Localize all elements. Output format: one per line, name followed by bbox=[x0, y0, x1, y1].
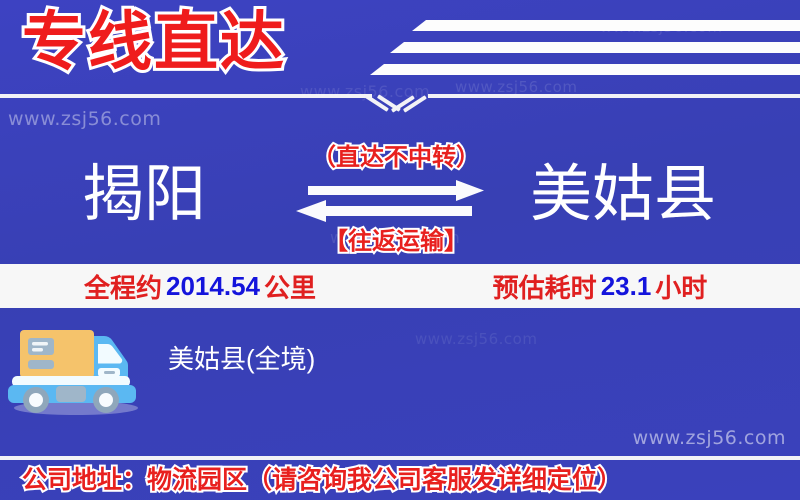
watermark-faint-2: www.zsj56.com bbox=[600, 18, 722, 36]
duration-label-prefix: 预估耗时 bbox=[493, 273, 597, 303]
route-tagline-bottom: 【往返运输】 bbox=[288, 228, 504, 256]
distance-cell: 全程约2014.54公里 bbox=[0, 268, 400, 305]
stripe-2 bbox=[390, 42, 800, 53]
stripe-3 bbox=[370, 64, 800, 75]
bidirectional-arrow-icon bbox=[294, 180, 498, 224]
duration-cell: 预估耗时23.1小时 bbox=[400, 268, 800, 305]
route-middle: （直达不中转） 【往返运输】 bbox=[288, 142, 504, 267]
watermark-faint-1: www.zsj56.com bbox=[300, 82, 430, 101]
duration-value: 23.1 bbox=[597, 271, 656, 301]
coverage-area-label: 美姑县(全境) bbox=[168, 342, 315, 376]
route-tagline-top: （直达不中转） bbox=[288, 144, 504, 172]
arrow-left-icon bbox=[296, 200, 472, 222]
destination-city: 美姑县 bbox=[530, 150, 716, 240]
arrow-right-icon bbox=[308, 180, 484, 201]
logistics-route-banner: 专线直达 www.zsj56.com www.zsj56.com www.zsj… bbox=[0, 0, 800, 500]
company-address-text: 公司地址：物流园区（请咨询我公司客服发详细定位） bbox=[0, 464, 622, 496]
watermark-faint-3: www.zsj56.com bbox=[455, 78, 577, 96]
delivery-row: 美姑县(全境) bbox=[0, 314, 800, 420]
origin-city: 揭阳 bbox=[82, 150, 206, 240]
footer-bar: 公司地址：物流园区（请咨询我公司客服发详细定位） bbox=[0, 460, 800, 500]
watermark-top-left: www.zsj56.com bbox=[8, 108, 161, 130]
watermark-bottom-right: www.zsj56.com bbox=[633, 427, 786, 449]
route-row: 揭阳 （直达不中转） 【往返运输】 美姑县 bbox=[0, 150, 800, 260]
delivery-truck-icon bbox=[6, 318, 144, 416]
decorative-stripes bbox=[370, 12, 800, 76]
distance-label-suffix: 公里 bbox=[264, 273, 316, 303]
distance-label-prefix: 全程约 bbox=[84, 273, 162, 303]
duration-label-suffix: 小时 bbox=[655, 273, 707, 303]
distance-value: 2014.54 bbox=[162, 271, 264, 301]
page-title: 专线直达 bbox=[22, 2, 286, 82]
trip-info-strip: 全程约2014.54公里 预估耗时23.1小时 bbox=[0, 264, 800, 308]
